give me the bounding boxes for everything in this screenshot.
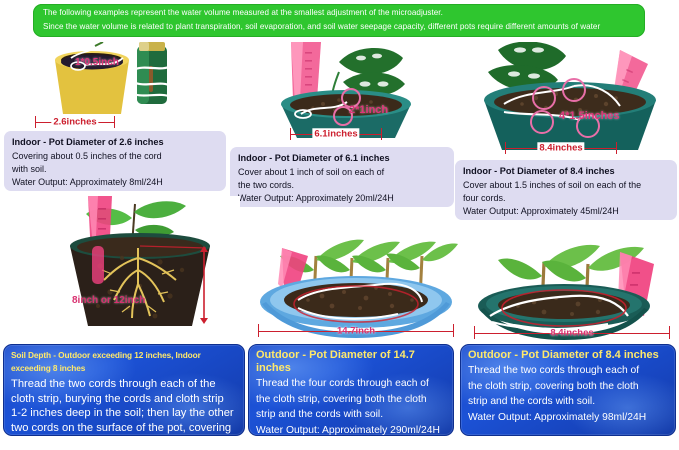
dimension-8-4-inches-bottom: 8.4inches [474,326,670,339]
panel-indoor-6-1-line-2: the two cords. [238,179,447,192]
photo-top-middle-overlay-label: 2*1inch [349,104,388,116]
panel-indoor-6-1-inches: Indoor - Pot Diameter of 6.1 inches Cove… [230,147,454,207]
panel-outdoor-14-7-line-1: Thread the four cords through each of [256,376,447,392]
panel-indoor-8-4-water-output: Water Output: Approximately 45ml/24H [463,205,670,218]
panel-outdoor-14-7-line-3: strip and the cords with soil. [256,407,447,423]
photo-bottom-left-overlay-label: 8inch or 12inch [72,295,145,306]
dimension-cap-left [35,116,36,128]
dimension-cap-right [381,128,382,140]
dimension-label: 8.4inches [537,142,584,153]
intro-banner: The following examples represent the wat… [33,4,645,37]
dimension-cap-right [453,324,454,337]
dimension-cap-right [669,326,670,339]
dimension-label: 6.1inches [312,128,359,139]
panel-indoor-8-4-title: Indoor - Pot Diameter of 8.4 inches [463,165,670,178]
panel-indoor-6-1-line-1: Cover about 1 inch of soil on each of [238,166,447,179]
dimension-8-4-inches-top: 8.4inches [505,142,617,154]
panel-soil-depth: Soil Depth - Outdoor exceeding 12 inches… [3,344,245,436]
photo-indoor-8-4-inch-pot: 4*1.5inches [470,42,670,152]
dimension-cap-left [474,326,475,339]
infographic-stage: The following examples represent the wat… [0,0,679,439]
photo-top-left-overlay-label: 1*0.5inch [75,57,119,68]
panel-outdoor-8-4-line-1: Thread the two cords through each of [468,363,669,379]
panel-indoor-2-6-title: Indoor - Pot Diameter of 2.6 inches [12,136,219,149]
dimension-label: 8.4inches [548,327,595,338]
panel-soil-depth-line-2: cloth strip, burying the cords and cloth… [11,392,238,407]
panel-indoor-8-4-line-2: four cords. [463,192,670,205]
panel-indoor-8-4-inches: Indoor - Pot Diameter of 8.4 inches Cove… [455,160,677,220]
panel-indoor-6-1-water-output: Water Output: Approximately 20ml/24H [238,192,447,205]
dimension-cap-right [616,142,617,154]
dimension-cap-left [258,324,259,337]
panel-soil-depth-line-5: the cords with soil. [11,435,238,450]
panel-soil-depth-line-1: Thread the two cords through each of the [11,377,238,392]
photo-indoor-6-1-inch-pot-art [243,42,435,140]
dimension-2-6-inches: 2.6inches [35,116,115,128]
panel-soil-depth-line-3: 1-2 inches deep in the soil; then lay th… [11,406,238,421]
photo-soil-depth-cutaway-art [40,196,240,341]
dimension-cap-left [505,142,506,154]
photo-indoor-8-4-inch-pot-art [470,42,670,152]
dimension-cap-right [114,116,115,128]
panel-outdoor-8-4-title: Outdoor - Pot Diameter of 8.4 inches [468,349,669,362]
panel-outdoor-8-4-inches: Outdoor - Pot Diameter of 8.4 inches Thr… [460,344,676,436]
panel-outdoor-14-7-inches: Outdoor - Pot Diameter of 14.7 inches Th… [248,344,454,436]
photo-soil-depth-cutaway: 8inch or 12inch [40,196,240,341]
panel-outdoor-14-7-title: Outdoor - Pot Diameter of 14.7 inches [256,349,447,375]
panel-outdoor-14-7-water-output: Water Output: Approximately 290ml/24H [256,423,447,439]
panel-outdoor-14-7-line-2: the cloth strip, covering both the cloth [256,392,447,408]
panel-indoor-2-6-water-output: Water Output: Approximately 8ml/24H [12,176,219,189]
panel-outdoor-8-4-water-output: Water Output: Approximately 98ml/24H [468,410,669,426]
panel-outdoor-8-4-line-2: the cloth strip, covering both the cloth [468,379,669,395]
panel-soil-depth-line-4: two cords on the surface of the pot, cov… [11,421,238,436]
dimension-label: 14.7inch [335,325,377,336]
panel-outdoor-8-4-line-3: strip and the cords with soil. [468,394,669,410]
panel-indoor-2-6-line-2: with soil. [12,163,219,176]
intro-banner-line-2: Since the water volume is related to pla… [43,20,637,34]
intro-banner-line-1: The following examples represent the wat… [43,6,637,20]
dimension-cap-left [290,128,291,140]
dimension-label: 2.6inches [51,116,98,127]
panel-indoor-2-6-inches: Indoor - Pot Diameter of 2.6 inches Cove… [4,131,226,191]
dimension-14-7-inch: 14.7inch [258,324,454,337]
panel-indoor-2-6-line-1: Covering about 0.5 inches of the cord [12,150,219,163]
panel-indoor-6-1-title: Indoor - Pot Diameter of 6.1 inches [238,152,447,165]
panel-indoor-8-4-line-1: Cover about 1.5 inches of soil on each o… [463,179,670,192]
dimension-6-1-inches: 6.1inches [290,128,382,140]
panel-soil-depth-title: Soil Depth - Outdoor exceeding 12 inches… [11,349,238,375]
photo-top-right-overlay-label: 4*1.5inches [559,110,620,122]
photo-indoor-6-1-inch-pot: 2*1inch [243,42,435,140]
